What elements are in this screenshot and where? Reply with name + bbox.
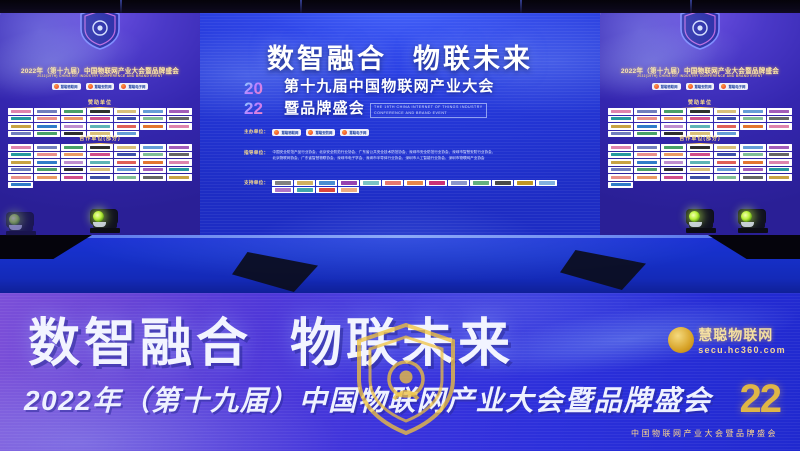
sponsor-logo-cell — [448, 180, 469, 186]
sponsor-logo-cell — [167, 144, 192, 151]
sponsor-logo-cell — [687, 144, 712, 151]
moving-head-light-icon — [684, 203, 718, 233]
sponsor-logo-cell — [61, 174, 86, 181]
center-screen: 数智融合物联未来 20 22 第十九届中国物联网产业大会 — [200, 13, 600, 235]
organizer-name: 慧聪电子网 — [728, 84, 745, 89]
sponsor-logo-cell — [740, 152, 765, 159]
banner-headline-left: 数智融合 — [28, 315, 252, 373]
side-panel-title-en: 2022(19TH) CHINA IOT INDUSTRY CONFERENCE… — [608, 74, 792, 78]
sponsor-logo-cell — [661, 108, 686, 115]
sponsor-logo-cell — [740, 144, 765, 151]
sponsor-logo-cell — [61, 123, 86, 130]
sponsor-logo-cell — [87, 167, 112, 174]
center-subtitle-line2: 暨品牌盛会 — [284, 97, 365, 118]
sponsor-logo-cell — [687, 116, 712, 123]
sponsor-logo-cell — [740, 174, 765, 181]
sponsor-logo-cell — [634, 108, 659, 115]
side-panel-left: 2022年（第十九届）中国物联网产业大会暨品牌盛会 2022(19TH) CHI… — [0, 13, 200, 235]
sponsor-logo-cell — [167, 167, 192, 174]
sponsor-logo-cell — [536, 180, 557, 186]
sponsor-logo-cell — [294, 180, 315, 186]
credit-row-support: 支持单位： — [244, 180, 572, 193]
organizer-chip: 慧聪电子网 — [719, 83, 748, 90]
sponsor-logo-cell — [167, 174, 192, 181]
sponsor-logo-cell — [404, 180, 425, 186]
sponsor-logo-cell — [634, 116, 659, 123]
sponsor-logo-cell — [740, 123, 765, 130]
section-heading-partners: 合作单位(部分) — [600, 135, 800, 144]
sponsor-logo-cell — [687, 159, 712, 166]
sponsor-logo-cell — [767, 152, 792, 159]
credit-label: 指导单位： — [244, 150, 268, 156]
sponsor-logo-cell — [740, 108, 765, 115]
credit-label: 支持单位： — [244, 180, 268, 186]
english-line-1: THE 19TH CHINA INTERNET OF THINGS INDUST… — [374, 105, 483, 110]
sponsor-logo-cell — [114, 123, 139, 130]
center-english-box: THE 19TH CHINA INTERNET OF THINGS INDUST… — [370, 103, 487, 118]
sponsor-logo-cell — [272, 187, 293, 193]
sponsor-logo-cell — [8, 108, 33, 115]
sponsor-logo-cell — [661, 123, 686, 130]
sponsor-logo-cell — [714, 167, 739, 174]
sponsor-logo-cell — [608, 123, 633, 130]
sponsor-logo-cell — [167, 116, 192, 123]
shield-icon — [678, 13, 722, 51]
organizer-chip: 慧聪物联网 — [652, 83, 681, 90]
organizer-chip: 慧聪安防网 — [86, 83, 115, 90]
svg-text:20: 20 — [244, 79, 263, 98]
sponsor-logo-cell — [714, 116, 739, 123]
sponsor-logo-cell — [61, 167, 86, 174]
headline-right: 物联未来 — [413, 44, 533, 74]
sponsor-logo-cell — [634, 159, 659, 166]
sponsor-logo-cell — [634, 174, 659, 181]
sponsor-logo-cell — [687, 167, 712, 174]
sponsor-logo-cell — [687, 108, 712, 115]
sponsor-logo-cell — [140, 123, 165, 130]
side-panel-organizers: 慧聪物联网 慧聪安防网 慧聪电子网 — [608, 83, 792, 90]
sponsor-logo-cell — [87, 108, 112, 115]
sponsor-logo-cell — [767, 144, 792, 151]
guidance-line-1: 中国安全防范产品行业协会、北京安全防范行业协会、广东省公共安全技术防范协会、深圳… — [272, 150, 495, 156]
sponsor-logo-cell — [61, 152, 86, 159]
section-heading-partners: 合作单位(部分) — [0, 135, 200, 144]
sponsor-logo-cell — [767, 116, 792, 123]
sponsor-logo-cell — [661, 144, 686, 151]
sponsor-logo-cell — [140, 174, 165, 181]
sponsor-logo-cell — [608, 182, 633, 189]
organizer-name: 慧聪电子网 — [349, 130, 366, 135]
sponsor-logo-grid-left — [8, 108, 192, 137]
sponsor-logo-cell — [740, 159, 765, 166]
svg-text:22: 22 — [244, 99, 263, 117]
organizer-dot-icon — [308, 130, 313, 135]
sponsor-logo-cell — [8, 174, 33, 181]
sponsor-logo-cell — [114, 152, 139, 159]
sponsor-logo-cell — [34, 116, 59, 123]
sponsor-logo-cell — [114, 167, 139, 174]
sponsor-logo-cell — [661, 174, 686, 181]
sponsor-logo-cell — [661, 167, 686, 174]
sponsor-logo-cell — [167, 152, 192, 159]
sponsor-logo-cell — [114, 108, 139, 115]
sponsor-logo-cell — [714, 108, 739, 115]
sponsor-logo-cell — [87, 144, 112, 151]
sponsor-logo-cell — [114, 116, 139, 123]
sponsor-logo-cell — [140, 116, 165, 123]
organizer-name: 慧聪物联网 — [661, 84, 678, 89]
sponsor-logo-cell — [87, 174, 112, 181]
sponsor-logo-cell — [714, 152, 739, 159]
organizer-dot-icon — [342, 130, 347, 135]
sponsor-logo-cell — [140, 108, 165, 115]
sponsor-logo-cell — [114, 144, 139, 151]
sponsor-logo-cell — [492, 180, 513, 186]
organizer-chip: 慧聪电子网 — [119, 83, 148, 90]
headline-left: 数智融合 — [267, 44, 387, 74]
sponsor-logo-cell — [140, 159, 165, 166]
sponsor-logo-cell — [687, 123, 712, 130]
organizer-name: 慧聪安防网 — [695, 84, 712, 89]
organizer-dot-icon — [274, 130, 279, 135]
sponsor-logo-cell — [634, 167, 659, 174]
sponsor-logo-cell — [714, 159, 739, 166]
sponsor-logo-cell — [61, 116, 86, 123]
sponsor-logo-cell — [294, 187, 315, 193]
sponsor-logo-cell — [608, 159, 633, 166]
organizer-dot-icon — [121, 84, 126, 89]
sponsor-logo-cell — [8, 123, 33, 130]
organizer-name: 慧聪物联网 — [61, 84, 78, 89]
sponsor-logo-cell — [34, 167, 59, 174]
sponsor-logo-cell — [61, 108, 86, 115]
bottom-banner: 数智融合物联未来 2022年（第十九届）中国物联网产业大会暨品牌盛会 22 中国… — [0, 293, 800, 451]
sponsor-logo-cell — [634, 144, 659, 151]
organizer-dot-icon — [721, 84, 726, 89]
moving-head-light-icon — [4, 206, 38, 236]
sponsor-logo-cell — [167, 123, 192, 130]
sponsor-logo-cell — [316, 180, 337, 186]
sponsor-logo-cell — [661, 152, 686, 159]
organizer-dot-icon — [654, 84, 659, 89]
sponsor-logo-cell — [61, 159, 86, 166]
support-logo-strip — [272, 180, 572, 193]
organizer-chip: 慧聪物联网 — [52, 83, 81, 90]
sponsor-logo-cell — [87, 159, 112, 166]
sponsor-logo-cell — [87, 152, 112, 159]
led-video-wall: 2022年（第十九届）中国物联网产业大会暨品牌盛会 2022(19TH) CHI… — [0, 13, 800, 235]
stage-floor — [0, 235, 800, 293]
organizer-dot-icon — [88, 84, 93, 89]
sponsor-logo-cell — [8, 116, 33, 123]
sponsor-logo-cell — [470, 180, 491, 186]
sponsor-logo-cell — [687, 174, 712, 181]
sponsor-logo-cell — [8, 152, 33, 159]
gold-badge-icon — [668, 327, 694, 353]
stage-photo: 2022年（第十九届）中国物联网产业大会暨品牌盛会 2022(19TH) CHI… — [0, 0, 800, 451]
sponsor-logo-cell — [661, 159, 686, 166]
sponsor-logo-cell — [634, 152, 659, 159]
sponsor-logo-grid-right — [608, 108, 792, 137]
organizer-name: 慧聪物联网 — [281, 130, 298, 135]
sponsor-logo-cell — [740, 116, 765, 123]
sponsor-logo-cell — [767, 167, 792, 174]
sponsor-logo-cell — [661, 116, 686, 123]
watermark-url: secu.hc360.com — [698, 345, 786, 355]
watermark-name: 慧聪物联网 — [698, 325, 786, 345]
sponsor-logo-cell — [514, 180, 535, 186]
sponsor-logo-cell — [167, 159, 192, 166]
sponsor-logo-cell — [360, 180, 381, 186]
banner-footer: 中国物联网产业大会暨品牌盛会 — [631, 428, 778, 439]
sponsor-logo-cell — [8, 144, 33, 151]
year-2022-mark-icon: 20 22 — [244, 77, 278, 117]
organizer-name: 慧聪安防网 — [315, 130, 332, 135]
sponsor-logo-cell — [34, 144, 59, 151]
sponsor-logo-cell — [608, 144, 633, 151]
sponsor-logo-cell — [767, 123, 792, 130]
sponsor-logo-cell — [608, 108, 633, 115]
sponsor-logo-cell — [338, 180, 359, 186]
sponsor-logo-cell — [767, 159, 792, 166]
sponsor-logo-cell — [714, 144, 739, 151]
center-subtitle-block: 20 22 第十九届中国物联网产业大会 暨品牌盛会 THE 19TH CHINA… — [244, 75, 495, 118]
sponsor-logo-cell — [382, 180, 403, 186]
ceiling-dark-band — [0, 0, 800, 14]
center-subtitle-line1: 第十九届中国物联网产业大会 — [284, 75, 495, 96]
watermark: 慧聪物联网 secu.hc360.com — [668, 325, 786, 355]
sponsor-logo-cell — [740, 167, 765, 174]
sponsor-logo-cell — [608, 167, 633, 174]
credit-row-guidance: 指导单位： 中国安全防范产品行业协会、北京安全防范行业协会、广东省公共安全技术防… — [244, 150, 495, 161]
organizer-chip: 慧聪安防网 — [686, 83, 715, 90]
sponsor-logo-cell — [8, 159, 33, 166]
sponsor-logo-cell — [34, 174, 59, 181]
moving-head-light-icon — [736, 203, 770, 233]
organizer-chip: 慧聪安防网 — [306, 129, 335, 136]
sponsor-logo-cell — [338, 187, 359, 193]
sponsor-logo-cell — [608, 116, 633, 123]
sponsor-logo-cell — [8, 182, 33, 189]
sponsor-logo-cell — [140, 167, 165, 174]
credit-row-organizers: 主办单位： 慧聪物联网 慧聪安防网 慧聪电子网 — [244, 129, 369, 136]
sponsor-logo-cell — [114, 174, 139, 181]
sponsor-logo-cell — [34, 159, 59, 166]
sponsor-logo-cell — [8, 167, 33, 174]
organizer-dot-icon — [688, 84, 693, 89]
sponsor-logo-cell — [426, 180, 447, 186]
banner-year-badge: 22 — [740, 377, 781, 422]
sponsor-logo-cell — [61, 144, 86, 151]
sponsor-logo-cell — [34, 152, 59, 159]
guidance-line-2: 北京物联网协会、广东省智慧物联协会、深圳市电子学会、深圳市半导体行业协会、深圳市… — [272, 156, 495, 162]
credit-label: 主办单位： — [244, 129, 268, 135]
sponsor-logo-cell — [687, 152, 712, 159]
sponsor-logo-cell — [608, 152, 633, 159]
shield-icon — [78, 13, 122, 51]
stage-edge-highlight — [0, 235, 800, 238]
sponsor-logo-cell — [87, 123, 112, 130]
english-line-2: CONFERENCE AND BRAND EVENT — [374, 111, 483, 116]
section-heading-sponsors: 赞助单位 — [600, 99, 800, 108]
side-panel-right: 2022年（第十九届）中国物联网产业大会暨品牌盛会 2022(19TH) CHI… — [600, 13, 800, 235]
sponsor-logo-cell — [608, 174, 633, 181]
sponsor-logo-cell — [272, 180, 293, 186]
section-heading-sponsors: 赞助单位 — [0, 99, 200, 108]
organizer-name: 慧聪安防网 — [95, 84, 112, 89]
organizer-name: 慧聪电子网 — [128, 84, 145, 89]
organizer-chip: 慧聪物联网 — [272, 129, 301, 136]
sponsor-logo-cell — [167, 108, 192, 115]
watermark-shield-icon — [352, 321, 460, 437]
sponsor-logo-cell — [767, 108, 792, 115]
sponsor-logo-cell — [34, 108, 59, 115]
organizer-chip: 慧聪电子网 — [340, 129, 369, 136]
sponsor-logo-cell — [714, 174, 739, 181]
sponsor-logo-cell — [767, 174, 792, 181]
sponsor-logo-cell — [140, 152, 165, 159]
sponsor-logo-cell — [140, 144, 165, 151]
sponsor-logo-cell — [714, 123, 739, 130]
sponsor-logo-cell — [634, 123, 659, 130]
moving-head-light-icon — [88, 203, 122, 233]
partner-logo-grid-right — [608, 144, 792, 188]
partner-logo-grid-left — [8, 144, 192, 188]
sponsor-logo-cell — [316, 187, 337, 193]
center-headline: 数智融合物联未来 — [200, 37, 600, 76]
sponsor-logo-cell — [87, 116, 112, 123]
side-panel-organizers: 慧聪物联网 慧聪安防网 慧聪电子网 — [8, 83, 192, 90]
side-panel-title-en: 2022(19TH) CHINA IOT INDUSTRY CONFERENCE… — [8, 74, 192, 78]
sponsor-logo-cell — [34, 123, 59, 130]
sponsor-logo-cell — [114, 159, 139, 166]
organizer-dot-icon — [54, 84, 59, 89]
